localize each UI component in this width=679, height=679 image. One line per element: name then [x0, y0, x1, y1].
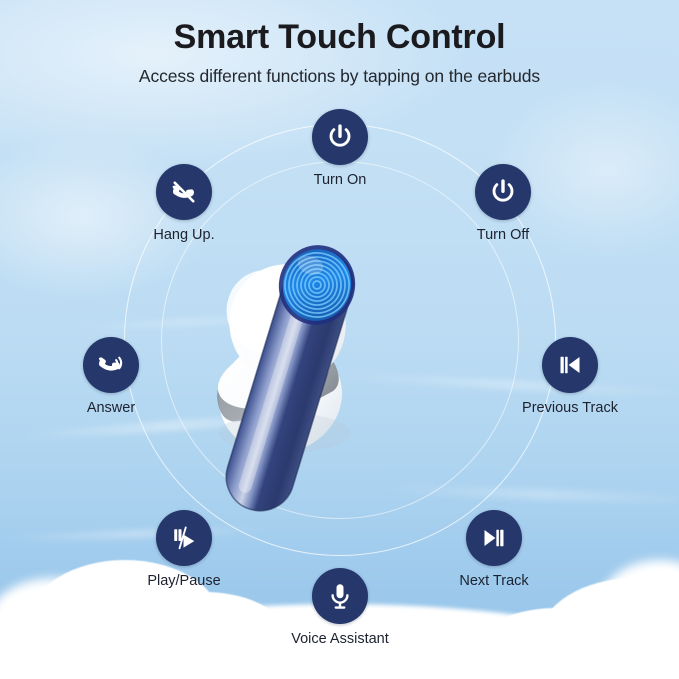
- infographic-canvas: Smart Touch Control Access different fun…: [0, 0, 679, 679]
- cumulus-cloud: [600, 560, 679, 650]
- cumulus-cloud: [540, 578, 679, 679]
- power-icon[interactable]: [312, 109, 368, 165]
- feature-play-pause[interactable]: Play/Pause: [119, 510, 249, 590]
- cumulus-cloud: [0, 578, 120, 658]
- feature-label: Voice Assistant: [275, 631, 405, 648]
- skip-forward-icon[interactable]: [466, 510, 522, 566]
- skip-back-icon[interactable]: [542, 337, 598, 393]
- feature-previous-track[interactable]: Previous Track: [505, 337, 635, 417]
- cumulus-cloud: [120, 592, 290, 679]
- feature-label: Play/Pause: [119, 573, 249, 590]
- header: Smart Touch Control Access different fun…: [0, 18, 679, 87]
- feature-next-track[interactable]: Next Track: [429, 510, 559, 590]
- feature-label: Turn Off: [438, 227, 568, 244]
- wireless-earbud-image: [180, 228, 500, 528]
- feature-label: Hang Up.: [119, 227, 249, 244]
- phone-answer-icon[interactable]: [83, 337, 139, 393]
- feature-label: Answer: [46, 400, 176, 417]
- feature-label: Previous Track: [505, 400, 635, 417]
- page-subtitle: Access different functions by tapping on…: [0, 66, 679, 87]
- cumulus-cloud: [470, 608, 640, 679]
- microphone-icon[interactable]: [312, 568, 368, 624]
- page-title: Smart Touch Control: [0, 18, 679, 57]
- play-pause-icon[interactable]: [156, 510, 212, 566]
- power-icon[interactable]: [475, 164, 531, 220]
- phone-hangup-icon[interactable]: [156, 164, 212, 220]
- feature-voice-assistant[interactable]: Voice Assistant: [275, 568, 405, 648]
- feature-turn-off[interactable]: Turn Off: [438, 164, 568, 244]
- feature-turn-on[interactable]: Turn On: [275, 109, 405, 189]
- feature-label: Next Track: [429, 573, 559, 590]
- feature-hang-up[interactable]: Hang Up.: [119, 164, 249, 244]
- feature-label: Turn On: [275, 172, 405, 189]
- cumulus-cloud: [0, 600, 150, 679]
- feature-answer[interactable]: Answer: [46, 337, 176, 417]
